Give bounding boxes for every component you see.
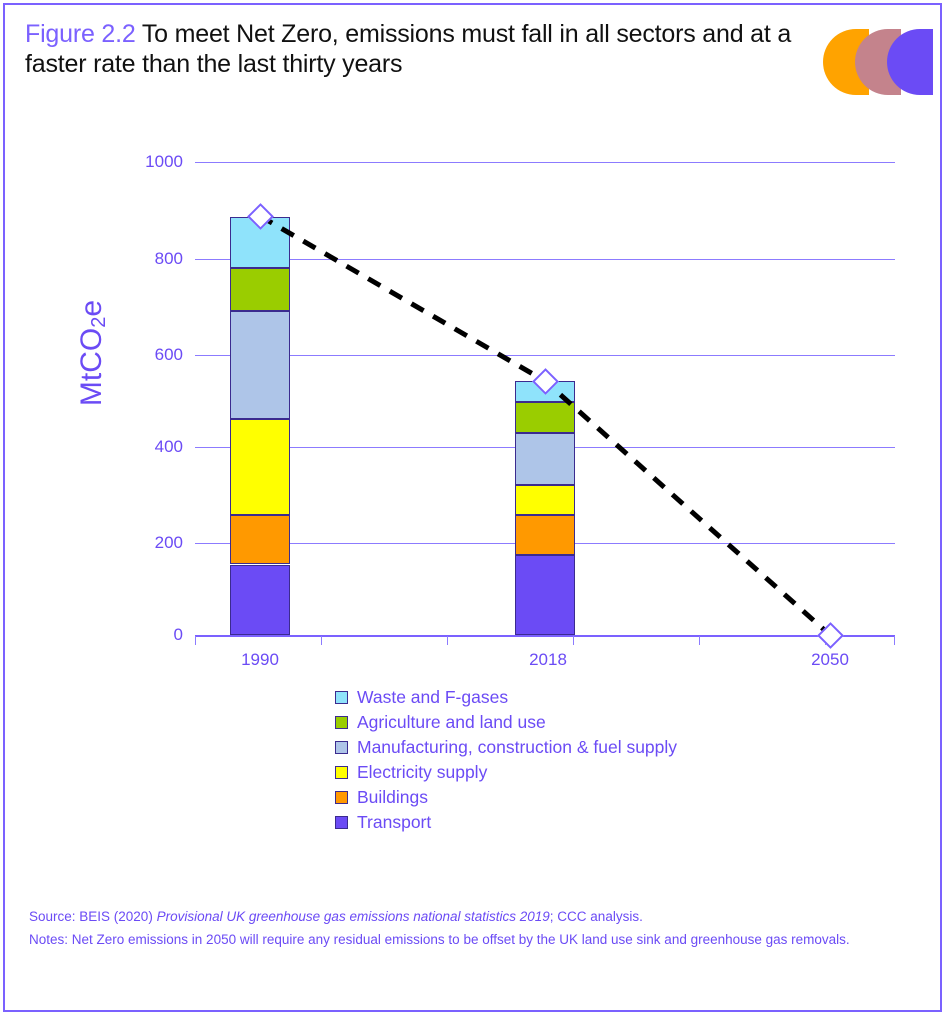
x-tick-mark [573,636,574,645]
bar-segment-electricity-2018[interactable] [515,485,575,516]
y-tick-label: 800 [123,249,183,269]
legend-label: Buildings [357,787,428,808]
legend-swatch-icon [335,691,348,704]
y-tick-label: 600 [123,345,183,365]
x-tick-mark [195,636,196,645]
legend-label: Agriculture and land use [357,712,546,733]
bar-segment-electricity-1990[interactable] [230,419,290,515]
x-tick-label-2050: 2050 [770,650,890,670]
legend-item-buildings[interactable]: Buildings [335,785,677,810]
legend-label: Transport [357,812,431,833]
y-tick-label: 400 [123,437,183,457]
figure-frame: Figure 2.2 To meet Net Zero, emissions m… [3,3,942,1012]
source-title: Provisional UK greenhouse gas emissions … [157,909,550,924]
bar-segment-agriculture-2018[interactable] [515,402,575,433]
x-tick-mark [321,636,322,645]
legend-label: Waste and F-gases [357,687,508,708]
bar-segment-manufacturing-2018[interactable] [515,433,575,485]
legend-swatch-icon [335,816,348,829]
y-axis-title: MtCO2e [75,253,111,453]
x-tick-mark [699,636,700,645]
figure-footnote: Source: BEIS (2020) Provisional UK green… [29,905,909,951]
x-axis-line [195,635,895,637]
y-tick-label: 1000 [123,152,183,172]
legend-item-manufacturing[interactable]: Manufacturing, construction & fuel suppl… [335,735,677,760]
legend-item-electricity[interactable]: Electricity supply [335,760,677,785]
legend-swatch-icon [335,741,348,754]
x-tick-label-2018: 2018 [488,650,608,670]
x-tick-mark [447,636,448,645]
bar-1990[interactable] [230,5,290,635]
chart-area: MtCO2e 1000 800 600 400 200 0 1990 2018 … [5,5,948,1023]
bar-segment-transport-1990[interactable] [230,565,290,636]
pathway-marker-2050[interactable] [817,622,844,649]
x-tick-label-1990: 1990 [200,650,320,670]
y-tick-label: 200 [123,533,183,553]
source-suffix: ; CCC analysis. [550,909,643,924]
bar-segment-agriculture-1990[interactable] [230,268,290,310]
legend-item-waste[interactable]: Waste and F-gases [335,685,677,710]
bar-segment-buildings-1990[interactable] [230,515,290,564]
legend-swatch-icon [335,766,348,779]
legend-item-agriculture[interactable]: Agriculture and land use [335,710,677,735]
notes-line: Notes: Net Zero emissions in 2050 will r… [29,928,909,951]
chart-legend: Waste and F-gases Agriculture and land u… [335,685,677,835]
bar-segment-buildings-2018[interactable] [515,515,575,555]
source-line: Source: BEIS (2020) Provisional UK green… [29,905,909,928]
legend-label: Manufacturing, construction & fuel suppl… [357,737,677,758]
legend-swatch-icon [335,716,348,729]
x-tick-mark [894,636,895,645]
legend-item-transport[interactable]: Transport [335,810,677,835]
bar-2018[interactable] [515,5,575,635]
legend-swatch-icon [335,791,348,804]
legend-label: Electricity supply [357,762,487,783]
bar-segment-transport-2018[interactable] [515,555,575,635]
bar-segment-manufacturing-1990[interactable] [230,311,290,419]
source-prefix: Source: BEIS (2020) [29,909,157,924]
y-tick-label: 0 [123,625,183,645]
